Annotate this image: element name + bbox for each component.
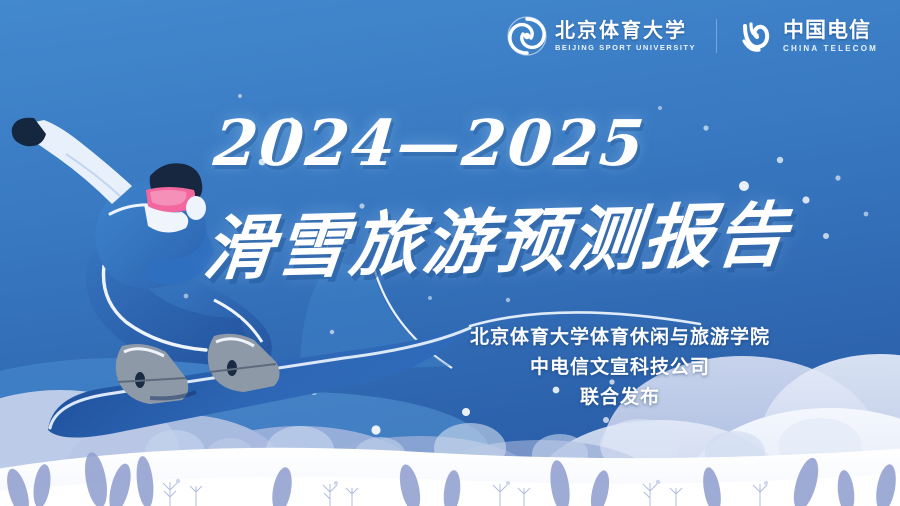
subtitle-block: 北京体育大学体育休闲与旅游学院 中电信文宣科技公司 联合发布 bbox=[440, 322, 800, 412]
subtitle-line-2: 中电信文宣科技公司 bbox=[440, 352, 800, 382]
rider-arm bbox=[12, 118, 132, 204]
bsu-name-en: BEIJING SPORT UNIVERSITY bbox=[555, 44, 696, 52]
title-years: 2024—2025 bbox=[211, 106, 649, 180]
spiral-swirl-icon bbox=[507, 16, 547, 56]
china-telecom-swirl-icon bbox=[737, 17, 775, 55]
telecom-name-cn: 中国电信 bbox=[783, 20, 878, 41]
ski-report-poster: 北京体育大学 BEIJING SPORT UNIVERSITY 中国电信 CHI… bbox=[0, 0, 900, 506]
logo-divider bbox=[716, 19, 717, 53]
telecom-logo-text: 中国电信 CHINA TELECOM bbox=[783, 20, 878, 53]
subtitle-line-1: 北京体育大学体育休闲与旅游学院 bbox=[440, 322, 800, 352]
bsu-name-cn: 北京体育大学 bbox=[555, 20, 696, 40]
logo-bar: 北京体育大学 BEIJING SPORT UNIVERSITY 中国电信 CHI… bbox=[507, 16, 878, 56]
logo-china-telecom: 中国电信 CHINA TELECOM bbox=[737, 17, 878, 55]
subtitle-line-3: 联合发布 bbox=[440, 382, 800, 412]
bsu-logo-text: 北京体育大学 BEIJING SPORT UNIVERSITY bbox=[555, 20, 696, 52]
telecom-name-en: CHINA TELECOM bbox=[783, 45, 878, 53]
title-main: 滑雪旅游预测报告 bbox=[199, 179, 795, 294]
logo-beijing-sport-university: 北京体育大学 BEIJING SPORT UNIVERSITY bbox=[507, 16, 696, 56]
